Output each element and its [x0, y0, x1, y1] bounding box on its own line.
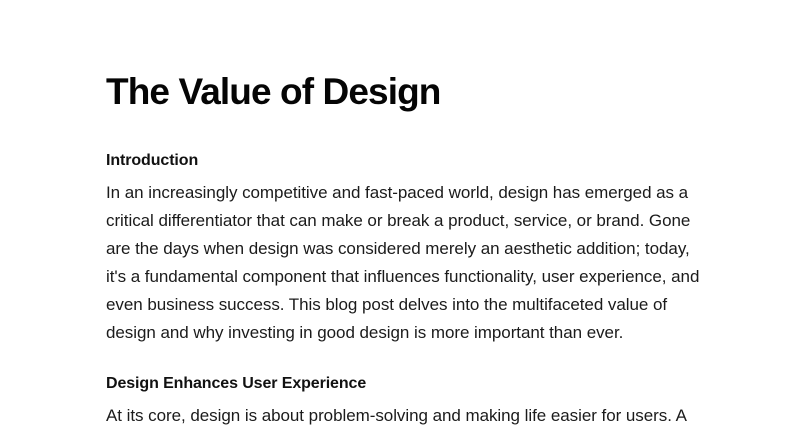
spacer: [106, 395, 706, 402]
section-heading-design-enhances-user-experience: Design Enhances User Experience: [106, 373, 706, 395]
spacer: [106, 114, 706, 150]
article-body: The Value of Design Introduction In an i…: [106, 0, 706, 430]
document-viewport: The Value of Design Introduction In an i…: [0, 0, 796, 446]
spacer: [106, 347, 706, 373]
section-paragraph-design-enhances-user-experience: At its core, design is about problem-sol…: [106, 402, 706, 430]
spacer: [106, 172, 706, 179]
section-heading-introduction: Introduction: [106, 150, 706, 172]
section-paragraph-introduction: In an increasingly competitive and fast-…: [106, 179, 706, 347]
page-title: The Value of Design: [106, 0, 706, 114]
